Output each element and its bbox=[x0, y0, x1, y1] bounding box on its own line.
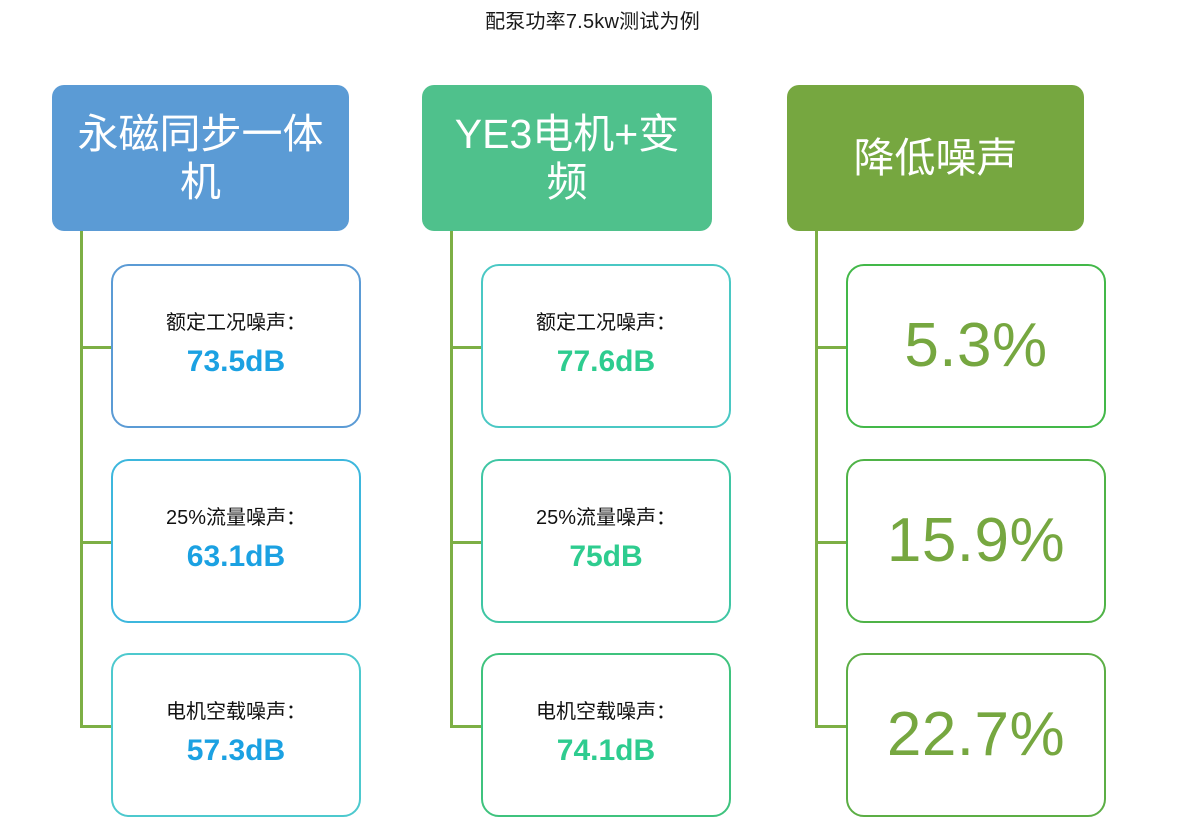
column-header-2: 降低噪声 bbox=[787, 85, 1084, 231]
connector-trunk-1 bbox=[450, 231, 453, 726]
reduction-value: 15.9% bbox=[887, 506, 1065, 576]
reduction-card[interactable]: 5.3% bbox=[846, 264, 1106, 428]
metric-value: 57.3dB bbox=[187, 731, 285, 771]
column-header-0: 永磁同步一体机 bbox=[52, 85, 349, 231]
metric-card[interactable]: 额定工况噪声： 77.6dB bbox=[481, 264, 731, 428]
connector-branch-1-2 bbox=[450, 725, 483, 728]
metric-label: 25%流量噪声： bbox=[536, 505, 676, 531]
metric-label: 25%流量噪声： bbox=[166, 505, 306, 531]
metric-label: 电机空载噪声： bbox=[166, 699, 306, 725]
connector-trunk-0 bbox=[80, 231, 83, 726]
infographic-canvas: 配泵功率7.5kw测试为例 永磁同步一体机 额定工况噪声： 73.5dB 25%… bbox=[0, 0, 1185, 820]
column-noise-reduction: 降低噪声 5.3% 15.9% 22.7% bbox=[787, 0, 1117, 820]
metric-card[interactable]: 25%流量噪声： 63.1dB bbox=[111, 459, 361, 623]
column-permanent-magnet: 永磁同步一体机 额定工况噪声： 73.5dB 25%流量噪声： 63.1dB 电… bbox=[52, 0, 372, 820]
metric-label: 电机空载噪声： bbox=[536, 699, 676, 725]
metric-label: 额定工况噪声： bbox=[166, 310, 306, 336]
metric-label: 额定工况噪声： bbox=[536, 310, 676, 336]
metric-value: 73.5dB bbox=[187, 342, 285, 382]
connector-branch-2-0 bbox=[815, 346, 848, 349]
connector-branch-0-0 bbox=[80, 346, 113, 349]
connector-branch-0-1 bbox=[80, 541, 113, 544]
metric-card[interactable]: 电机空载噪声： 74.1dB bbox=[481, 653, 731, 817]
connector-branch-0-2 bbox=[80, 725, 113, 728]
metric-card[interactable]: 25%流量噪声： 75dB bbox=[481, 459, 731, 623]
metric-value: 74.1dB bbox=[557, 731, 655, 771]
column-header-1: YE3电机+变频 bbox=[422, 85, 712, 231]
column-ye3-motor-vfd: YE3电机+变频 额定工况噪声： 77.6dB 25%流量噪声： 75dB 电机… bbox=[422, 0, 737, 820]
connector-branch-1-1 bbox=[450, 541, 483, 544]
metric-card[interactable]: 电机空载噪声： 57.3dB bbox=[111, 653, 361, 817]
metric-value: 63.1dB bbox=[187, 537, 285, 577]
connector-branch-2-2 bbox=[815, 725, 848, 728]
metric-card[interactable]: 额定工况噪声： 73.5dB bbox=[111, 264, 361, 428]
connector-branch-1-0 bbox=[450, 346, 483, 349]
reduction-card[interactable]: 22.7% bbox=[846, 653, 1106, 817]
reduction-card[interactable]: 15.9% bbox=[846, 459, 1106, 623]
metric-value: 75dB bbox=[569, 537, 642, 577]
reduction-value: 22.7% bbox=[887, 700, 1065, 770]
reduction-value: 5.3% bbox=[904, 311, 1047, 381]
metric-value: 77.6dB bbox=[557, 342, 655, 382]
connector-branch-2-1 bbox=[815, 541, 848, 544]
connector-trunk-2 bbox=[815, 231, 818, 726]
